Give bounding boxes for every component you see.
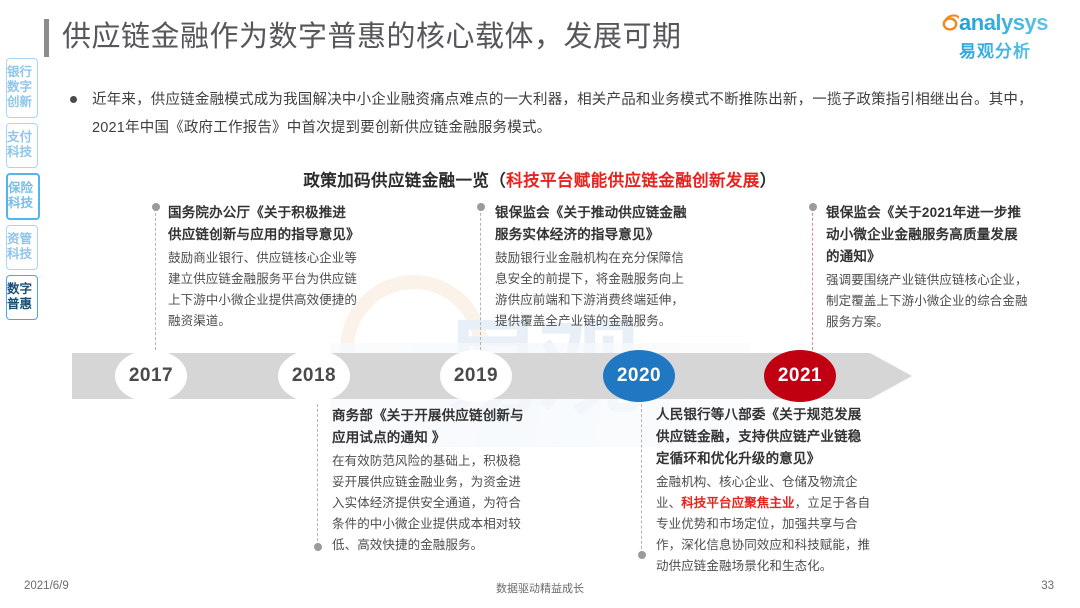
chart-title: 政策加码供应链金融一览（科技平台赋能供应链金融创新发展） xyxy=(0,167,1080,191)
connector-line xyxy=(317,399,318,551)
logo-wordmark: analysys xyxy=(959,12,1048,34)
event-heading: 银保监会《关于2021年进一步推动小微企业金融服务高质量发展的通知》 xyxy=(826,202,1030,268)
sidebar-item-digital-inclusive-finance[interactable]: 数字普惠 xyxy=(6,275,38,320)
connector-dot xyxy=(477,203,485,211)
connector-dot xyxy=(809,203,817,211)
event-body: 强调要围绕产业链供应链核心企业，制定覆盖上下游小微企业的综合金融服务方案。 xyxy=(826,270,1030,333)
sidebar-item-asset-management-tech[interactable]: 资管科技 xyxy=(6,225,38,270)
logo-chinese-name: 易观分析 xyxy=(936,37,1054,62)
event-card-2019: 银保监会《关于推动供应链金融服务实体经济的指导意见》 鼓励银行业金融机构在充分保… xyxy=(495,202,693,332)
event-body: 金融机构、核心企业、仓储及物流企业、科技平台应聚焦主业，立足于各自专业优势和市场… xyxy=(656,472,871,577)
event-card-2021: 银保监会《关于2021年进一步推动小微企业金融服务高质量发展的通知》 强调要围绕… xyxy=(826,202,1030,333)
sidebar-item-label: 银行数字创新 xyxy=(7,65,37,110)
timeline-year-2019[interactable]: 2019 xyxy=(440,350,512,402)
connector-dot xyxy=(314,543,322,551)
event-body: 鼓励银行业金融机构在充分保障信息安全的前提下，将金融服务向上游供应前端和下游消费… xyxy=(495,248,693,332)
connector-line xyxy=(480,203,481,355)
footer-slogan: 数据驱动精益成长 xyxy=(0,580,1080,596)
logo-mark-row: analysys xyxy=(936,10,1054,36)
sidebar-item-label: 数字普惠 xyxy=(7,282,37,312)
title-text: 供应链金融作为数字普惠的核心载体，发展可期 xyxy=(62,17,682,57)
timeline-year-2018[interactable]: 2018 xyxy=(278,350,350,402)
title-accent-bar xyxy=(44,19,49,57)
category-tabs: 银行数字创新 支付科技 保险科技 资管科技 数字普惠 xyxy=(6,58,36,325)
connector-line xyxy=(812,203,813,355)
event-heading: 人民银行等八部委《关于规范发展供应链金融，支持供应链产业链稳定循环和优化升级的意… xyxy=(656,404,871,470)
sidebar-item-label: 保险科技 xyxy=(8,181,38,211)
connector-line xyxy=(641,399,642,559)
event-card-2017: 国务院办公厅《关于积极推进供应链创新与应用的指导意见》 鼓励商业银行、供应链核心… xyxy=(168,202,358,332)
chart-title-main: 政策加码供应链金融一览（ xyxy=(303,172,506,190)
logo-swoosh-icon xyxy=(942,14,959,32)
slide-canvas: 易观 供应链金融作为数字普惠的核心载体，发展可期 analysys 易观分析 银… xyxy=(0,0,1080,608)
sidebar-item-payment-tech[interactable]: 支付科技 xyxy=(6,123,38,168)
timeline-year-2021[interactable]: 2021 xyxy=(764,350,836,402)
footer: 2021/6/9 数据驱动精益成长 33 xyxy=(0,580,1080,596)
connector-line xyxy=(155,203,156,355)
connector-dot xyxy=(638,551,646,559)
event-card-2020: 人民银行等八部委《关于规范发展供应链金融，支持供应链产业链稳定循环和优化升级的意… xyxy=(656,404,871,577)
year-label: 2017 xyxy=(129,365,173,387)
year-label: 2021 xyxy=(778,365,822,387)
timeline-year-2020[interactable]: 2020 xyxy=(603,350,675,402)
connector-dot xyxy=(152,203,160,211)
sidebar-item-insurance-tech[interactable]: 保险科技 xyxy=(6,173,40,220)
footer-page-number: 33 xyxy=(1041,580,1054,592)
year-label: 2020 xyxy=(617,365,661,387)
sidebar-item-label: 支付科技 xyxy=(7,130,37,160)
event-heading: 银保监会《关于推动供应链金融服务实体经济的指导意见》 xyxy=(495,202,693,246)
intro-bullet-text: 近年来，供应链金融模式成为我国解决中小企业融资痛点难点的一大利器，相关产品和业务… xyxy=(92,86,1060,142)
event-heading: 国务院办公厅《关于积极推进供应链创新与应用的指导意见》 xyxy=(168,202,358,246)
chart-title-tail: ） xyxy=(760,172,777,190)
sidebar-item-bank-digital-innovation[interactable]: 银行数字创新 xyxy=(6,58,38,118)
page-title: 供应链金融作为数字普惠的核心载体，发展可期 xyxy=(44,17,682,57)
event-heading: 商务部《关于开展供应链创新与应用试点的通知 》 xyxy=(332,405,532,449)
event-card-2018: 商务部《关于开展供应链创新与应用试点的通知 》 在有效防范风险的基础上，积极稳妥… xyxy=(332,405,532,556)
event-body-highlight: 科技平台应聚焦主业 xyxy=(681,496,794,510)
analysys-logo: analysys 易观分析 xyxy=(936,10,1054,62)
year-label: 2019 xyxy=(454,365,498,387)
bullet-dot-icon xyxy=(70,96,77,103)
timeline-year-2017[interactable]: 2017 xyxy=(115,350,187,402)
year-label: 2018 xyxy=(292,365,336,387)
event-body: 在有效防范风险的基础上，积极稳妥开展供应链金融业务，为资金进入实体经济提供安全通… xyxy=(332,451,532,556)
chart-title-highlight: 科技平台赋能供应链金融创新发展 xyxy=(506,172,760,190)
sidebar-item-label: 资管科技 xyxy=(7,232,37,262)
event-body: 鼓励商业银行、供应链核心企业等建立供应链金融服务平台为供应链上下游中小微企业提供… xyxy=(168,248,358,332)
intro-bullet: 近年来，供应链金融模式成为我国解决中小企业融资痛点难点的一大利器，相关产品和业务… xyxy=(70,86,1060,142)
